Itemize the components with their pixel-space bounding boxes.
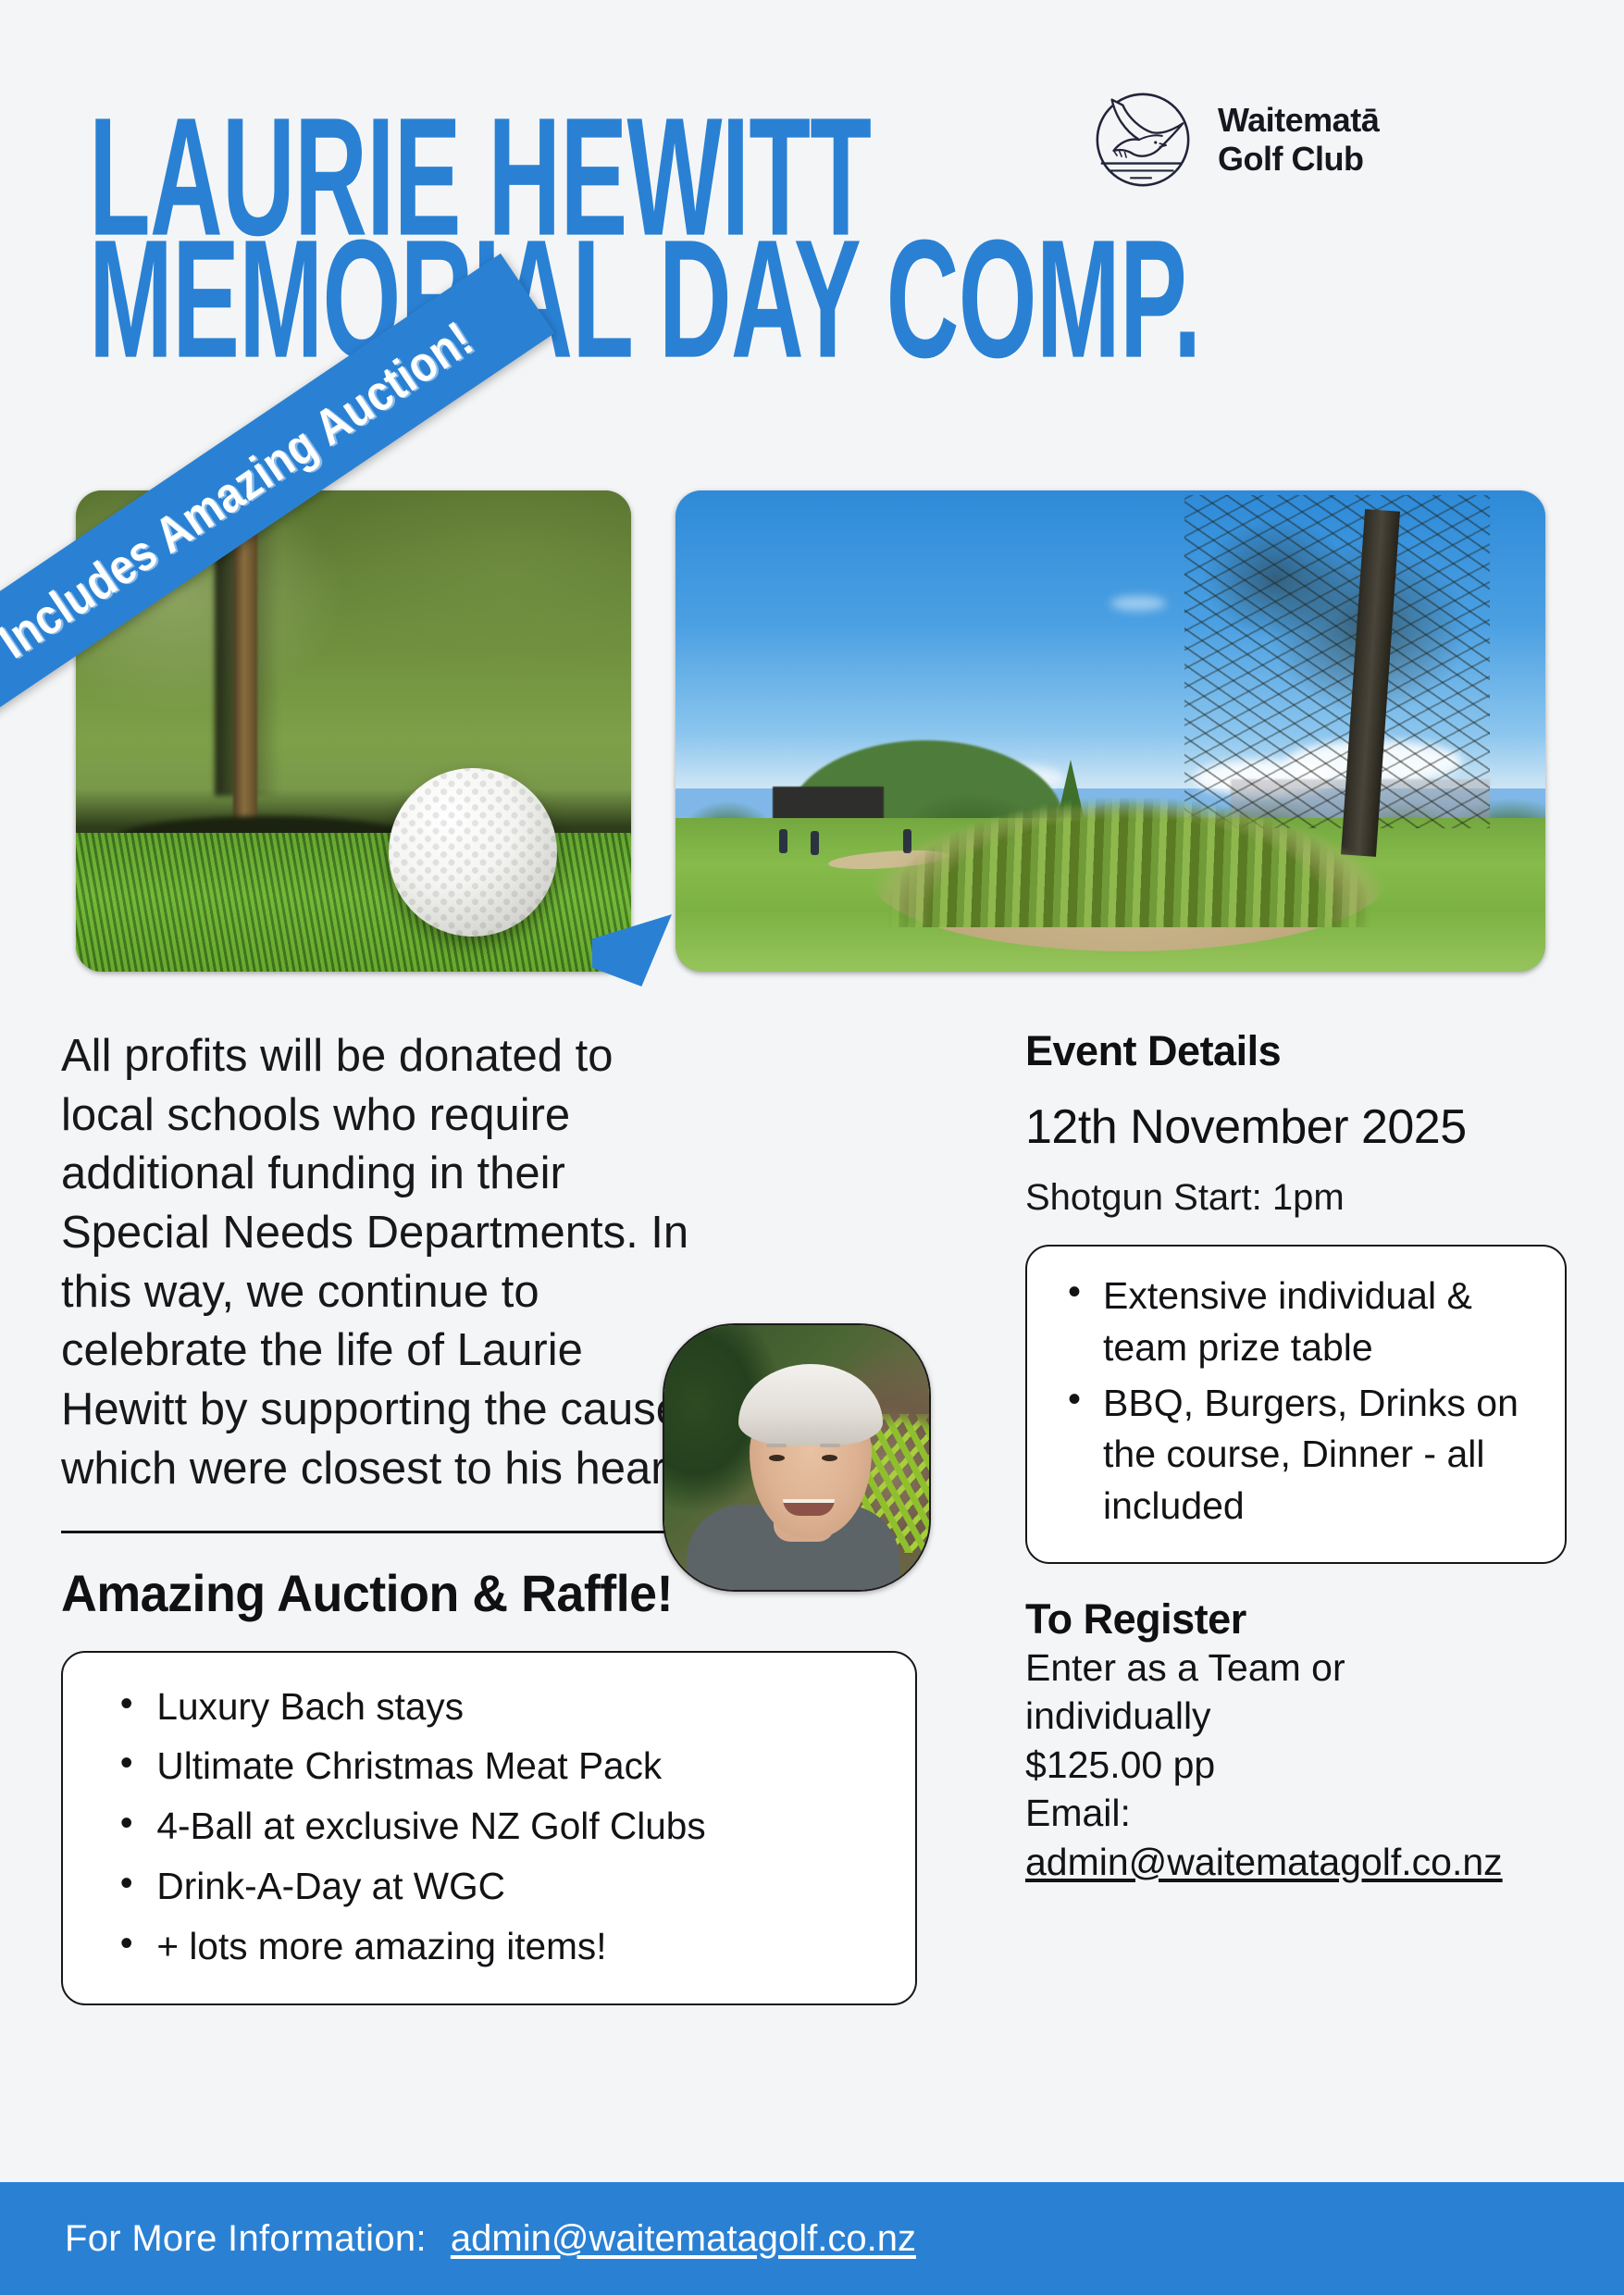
poster-title: LAURIE HEWITT MEMORIAL DAY COMP. xyxy=(89,100,1088,341)
golfer-figure xyxy=(811,831,819,855)
auction-items-box: Luxury Bach stays Ultimate Christmas Mea… xyxy=(61,1651,917,2006)
right-column: Event Details 12th November 2025 Shotgun… xyxy=(1025,1027,1567,1886)
club-name: Waitematā Golf Club xyxy=(1218,101,1379,179)
footer-contact: For More Information: admin@waitematagol… xyxy=(0,2218,916,2260)
left-column: All profits will be donated to local sch… xyxy=(61,1027,986,2005)
list-item: BBQ, Burgers, Drinks on the course, Dinn… xyxy=(1046,1378,1541,1532)
auction-heading: Amazing Auction & Raffle! xyxy=(61,1563,949,1623)
club-name-line-2: Golf Club xyxy=(1218,140,1363,178)
event-details-heading: Event Details xyxy=(1025,1027,1567,1075)
event-start-time: Shotgun Start: 1pm xyxy=(1025,1177,1567,1219)
large-tree-canopy xyxy=(1184,495,1490,828)
planting-bed-grasses xyxy=(888,798,1370,927)
seagull-over-water-circle-logo-icon xyxy=(1088,85,1197,194)
golf-ball xyxy=(389,768,557,937)
list-item: Drink-A-Day at WGC xyxy=(100,1856,871,1917)
list-item: + lots more amazing items! xyxy=(100,1917,871,1977)
register-email-link[interactable]: admin@waitematagolf.co.nz xyxy=(1025,1838,1503,1886)
register-email-label: Email: xyxy=(1025,1789,1567,1837)
poster-header: LAURIE HEWITT MEMORIAL DAY COMP. Wait xyxy=(0,0,1624,453)
register-line-2: individually xyxy=(1025,1692,1567,1740)
golf-course-landscape-photo xyxy=(676,490,1545,972)
event-date: 12th November 2025 xyxy=(1025,1099,1567,1155)
portrait-eye-right xyxy=(822,1455,837,1461)
auction-items-list: Luxury Bach stays Ultimate Christmas Mea… xyxy=(100,1677,878,1977)
register-line-1: Enter as a Team or xyxy=(1025,1644,1567,1692)
club-name-line-1: Waitematā xyxy=(1218,101,1379,139)
portrait-eyebrow-right xyxy=(820,1444,840,1447)
to-register-heading: To Register xyxy=(1025,1595,1567,1644)
poster-footer: For More Information: admin@waitematagol… xyxy=(0,2182,1624,2295)
golfer-figure xyxy=(779,829,787,853)
included-items-box: Extensive individual & team prize table … xyxy=(1025,1245,1567,1564)
portrait-eye-left xyxy=(769,1455,785,1461)
poster-root: LAURIE HEWITT MEMORIAL DAY COMP. Wait xyxy=(0,0,1624,2295)
list-item: Ultimate Christmas Meat Pack xyxy=(100,1736,871,1796)
register-price: $125.00 pp xyxy=(1025,1741,1567,1789)
portrait-eyebrow-left xyxy=(766,1444,787,1447)
intro-paragraph: All profits will be donated to local sch… xyxy=(61,1027,709,1499)
list-item: 4-Ball at exclusive NZ Golf Clubs xyxy=(100,1796,871,1856)
footer-label: For More Information: xyxy=(65,2218,427,2260)
list-item: Extensive individual & team prize table xyxy=(1046,1271,1541,1374)
photo-strip xyxy=(0,481,1624,981)
club-logo: Waitematā Golf Club xyxy=(1088,85,1379,194)
list-item: Luxury Bach stays xyxy=(100,1677,871,1737)
laurie-hewitt-portrait-photo xyxy=(663,1323,931,1592)
intro-paragraph-text: All profits will be donated to local sch… xyxy=(61,1031,704,1494)
footer-email-link[interactable]: admin@waitematagolf.co.nz xyxy=(451,2218,916,2260)
included-items-list: Extensive individual & team prize table … xyxy=(1046,1271,1541,1532)
